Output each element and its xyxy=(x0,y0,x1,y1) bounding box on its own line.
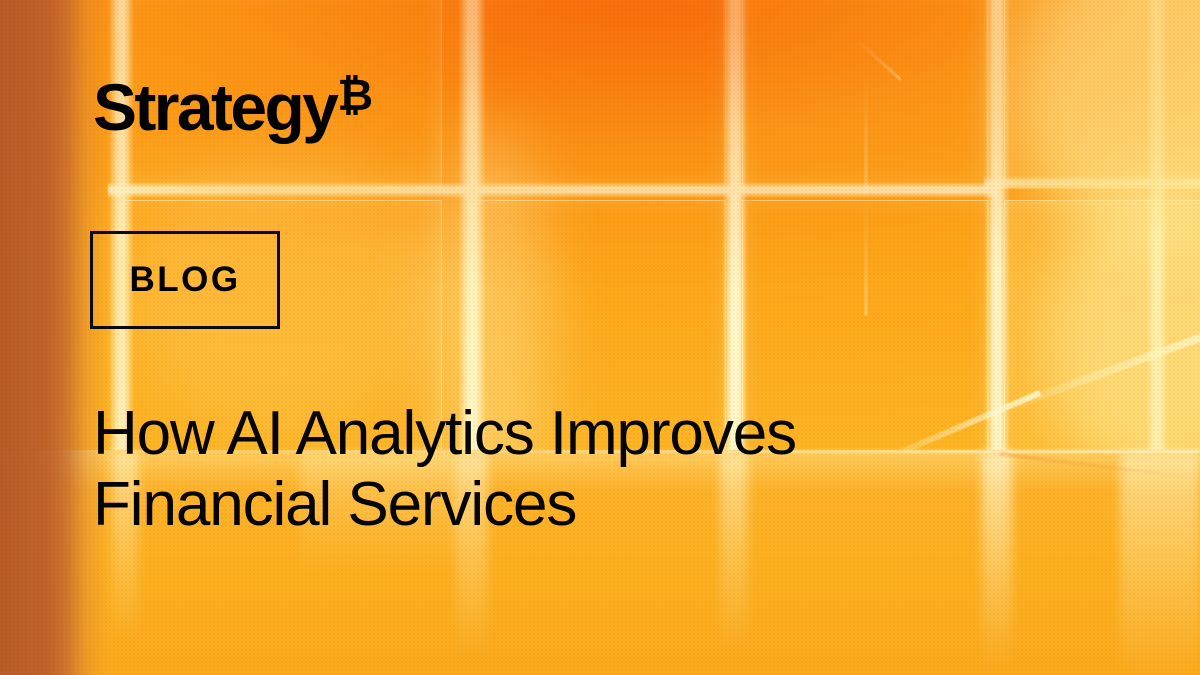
blog-banner: Strategy ₿ BLOG How AI Analytics Improve… xyxy=(0,0,1200,675)
status-badge-label: BLOG xyxy=(129,260,240,300)
banner-content: Strategy ₿ BLOG How AI Analytics Improve… xyxy=(0,0,1200,675)
brand-logo[interactable]: Strategy ₿ xyxy=(93,76,373,139)
bitcoin-icon: ₿ xyxy=(337,74,373,118)
page-title: How AI Analytics Improves Financial Serv… xyxy=(93,399,1053,540)
brand-name: Strategy xyxy=(93,76,336,139)
status-badge[interactable]: BLOG xyxy=(90,231,280,329)
